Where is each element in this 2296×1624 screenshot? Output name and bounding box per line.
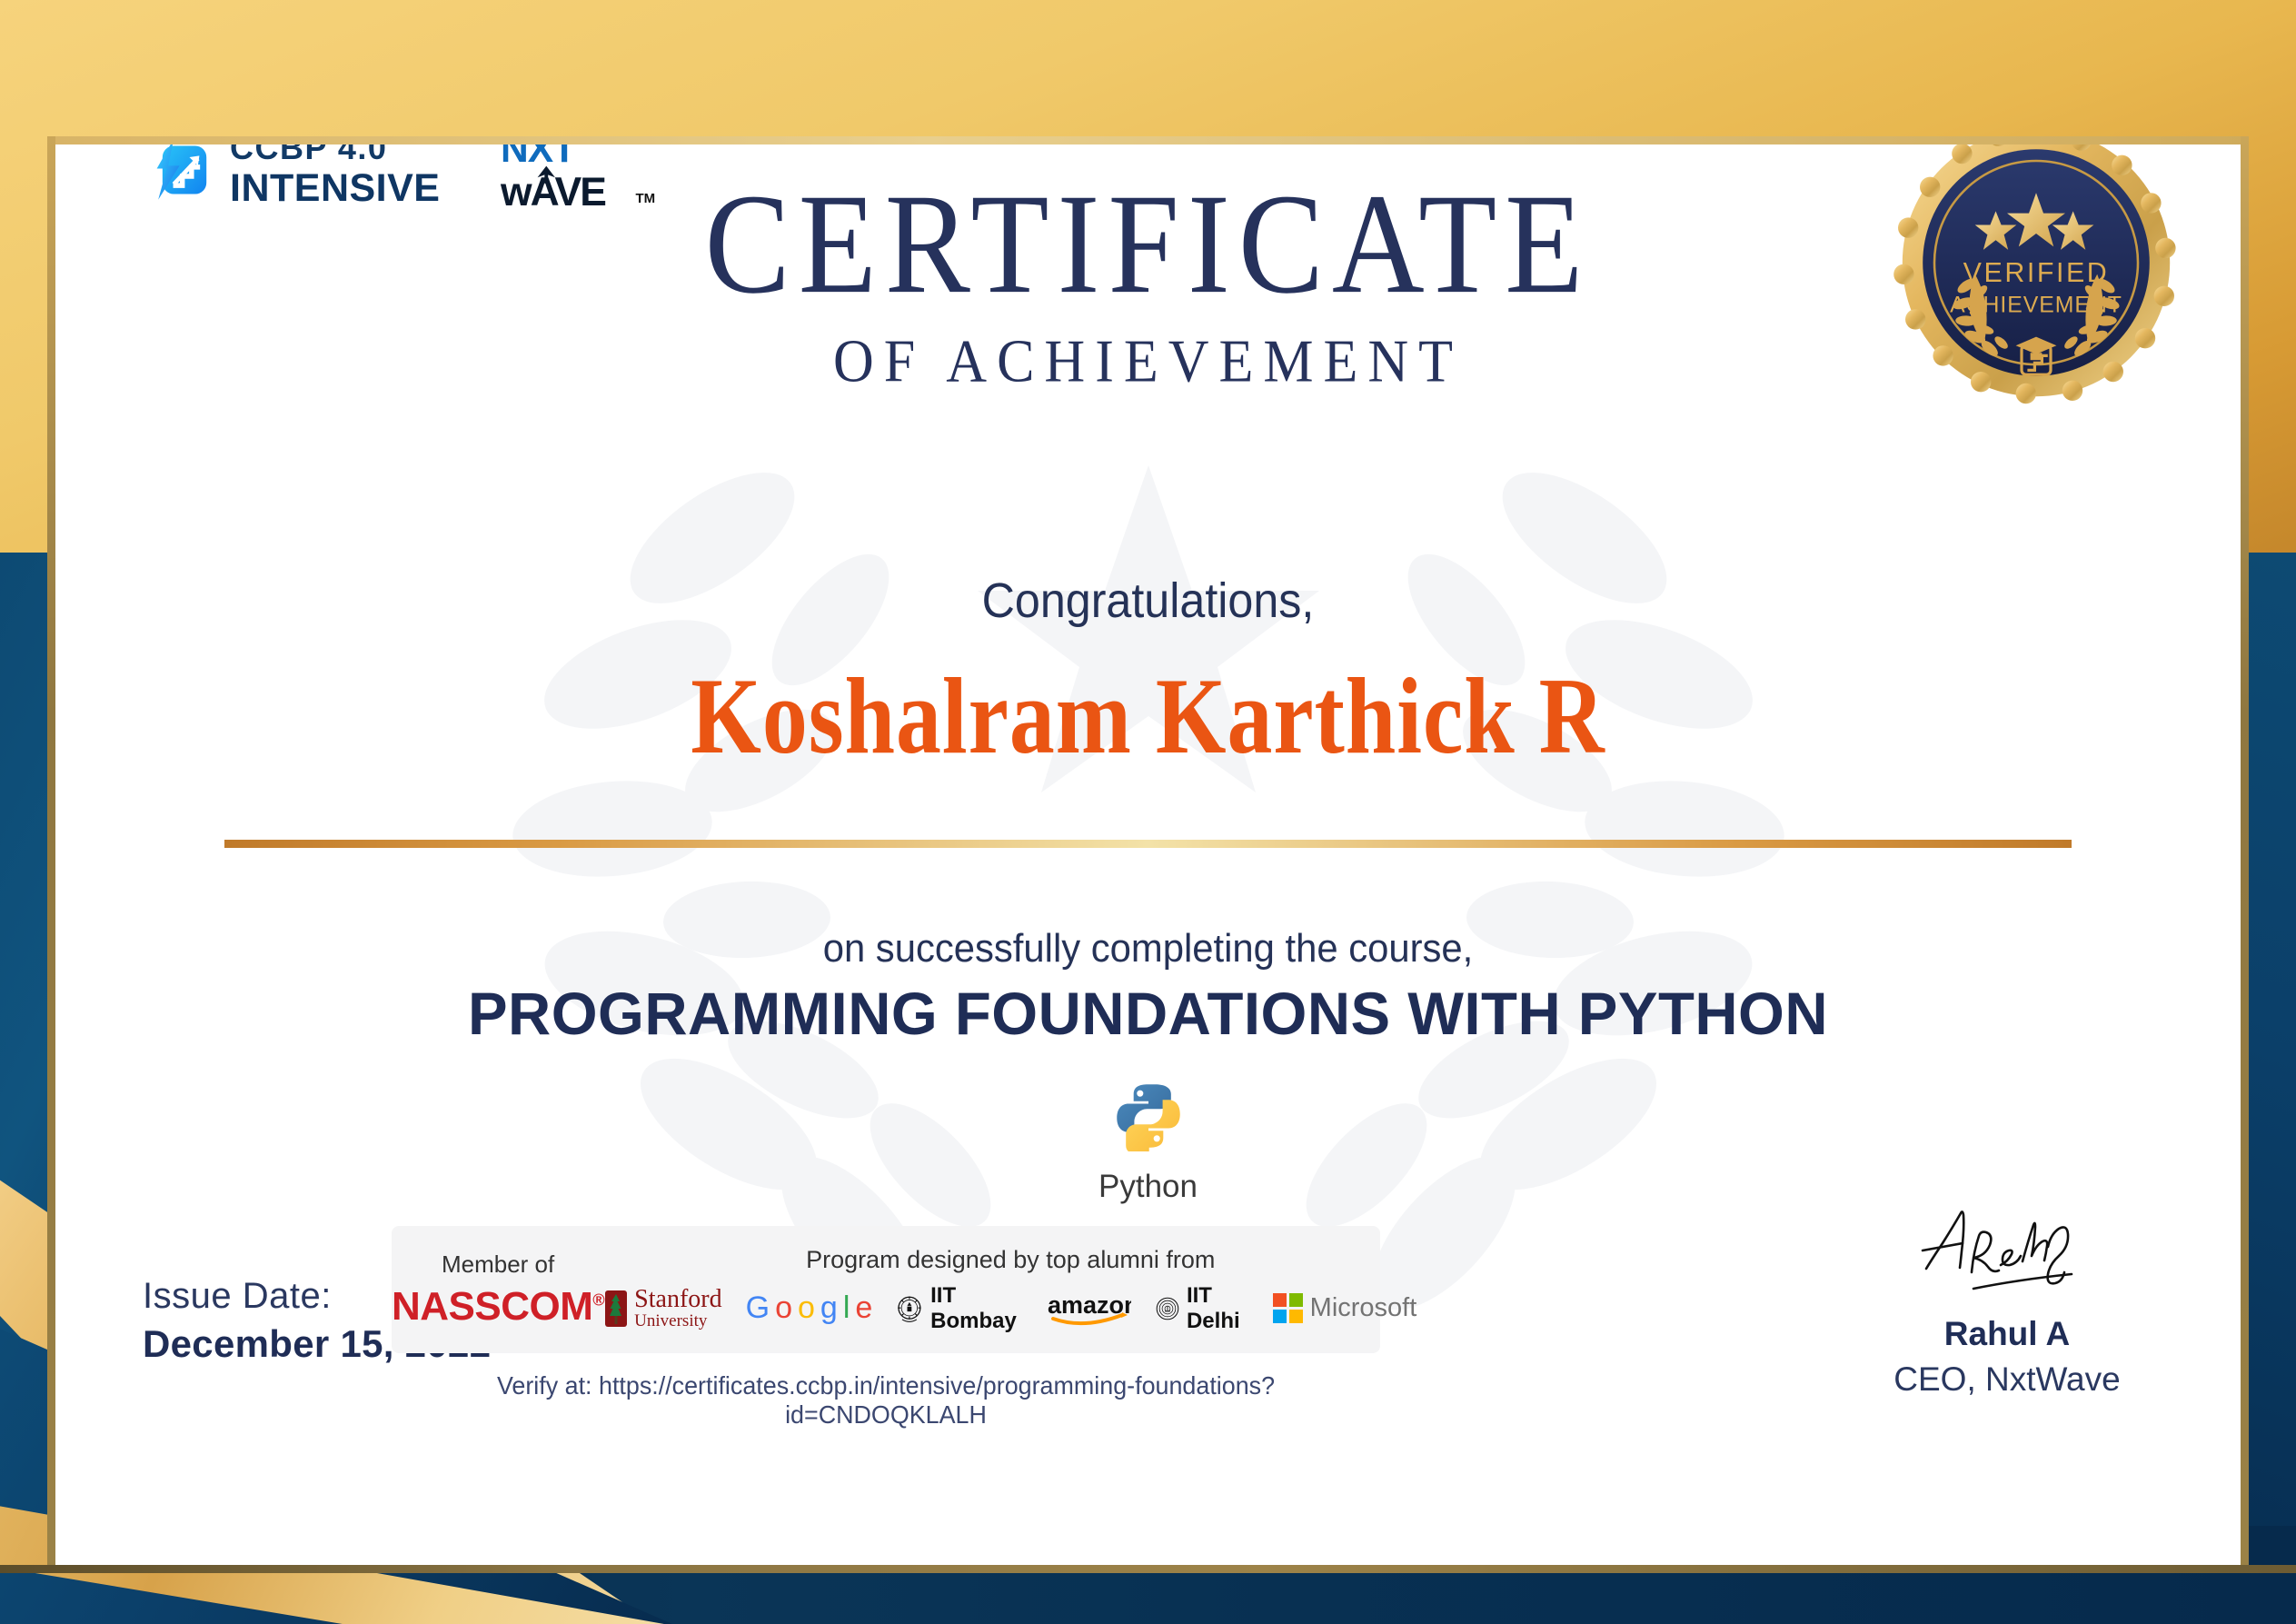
ccbp-label-line1: CCBP 4.0 <box>230 144 441 164</box>
member-of-block: Member of NASSCOM® <box>392 1226 604 1353</box>
iit-bombay-logo: IIT Bombay <box>895 1283 1024 1334</box>
alumni-block: Program designed by top alumni from Stan… <box>604 1226 1416 1353</box>
amazon-logo: amazon <box>1048 1290 1131 1327</box>
amazon-wordmark-icon: amazon <box>1048 1290 1131 1327</box>
pinstripe-top <box>47 136 2249 144</box>
google-letter-o1: o <box>775 1290 791 1326</box>
google-logo: Google <box>746 1290 872 1326</box>
member-of-caption: Member of <box>442 1250 554 1279</box>
iit-bombay-label: IIT Bombay <box>930 1283 1024 1334</box>
microsoft-squares-icon <box>1273 1293 1304 1324</box>
verify-url[interactable]: Verify at: https://certificates.ccbp.in/… <box>412 1371 1360 1430</box>
stanford-tree-icon <box>604 1290 628 1328</box>
title-block: CERTIFICATE OF ACHIEVEMENT <box>55 172 2241 394</box>
google-letter-g: G <box>746 1290 769 1326</box>
partners-panel: Member of NASSCOM® Program designed by t… <box>392 1226 1380 1353</box>
iit-delhi-label: IIT Delhi <box>1187 1283 1249 1334</box>
iit-delhi-logo: IIT Delhi <box>1155 1283 1249 1334</box>
signature-block: Rahul A CEO, NxtWave <box>1857 1194 2157 1399</box>
nasscom-label: NASSCOM <box>392 1284 592 1329</box>
svg-text:NXT: NXT <box>501 144 576 171</box>
google-letter-g2: g <box>820 1290 837 1326</box>
alumni-logos: Stanford University Google <box>604 1283 1416 1334</box>
stanford-logo: Stanford University <box>604 1287 721 1330</box>
gold-divider <box>224 840 2072 848</box>
congratulations-text: Congratulations, <box>132 573 2164 629</box>
certificate-root: CCBP 4.0 INTENSIVE NXT wAVE TM <box>0 0 2296 1624</box>
stanford-label-line1: Stanford <box>634 1287 721 1312</box>
google-letter-o2: o <box>798 1290 814 1326</box>
pinstripe-right <box>2241 136 2249 1573</box>
technology-block: Python <box>55 1081 2241 1205</box>
page-title: CERTIFICATE <box>55 172 2241 318</box>
iit-delhi-crest-icon <box>1155 1290 1180 1327</box>
nasscom-logo: NASSCOM® <box>392 1284 604 1330</box>
course-name: PROGRAMMING FOUNDATIONS WITH PYTHON <box>66 979 2230 1048</box>
recipient-name: Koshalram Karthick R <box>99 654 2197 779</box>
google-letter-l: l <box>843 1290 850 1326</box>
microsoft-logo: Microsoft <box>1273 1293 1417 1324</box>
google-letter-e: e <box>855 1290 871 1326</box>
pinstripe-bottom <box>0 1565 2296 1573</box>
nasscom-registered-mark: ® <box>592 1290 604 1309</box>
microsoft-label: Microsoft <box>1310 1293 1417 1323</box>
alumni-caption: Program designed by top alumni from <box>806 1246 1215 1274</box>
signatory-name: Rahul A <box>1857 1315 2157 1353</box>
page-subtitle: OF ACHIEVEMENT <box>55 327 2241 397</box>
certificate-card: CCBP 4.0 INTENSIVE NXT wAVE TM <box>55 144 2241 1565</box>
signature-icon <box>1903 1194 2112 1303</box>
signatory-role: CEO, NxtWave <box>1857 1360 2157 1399</box>
pinstripe-left <box>47 136 55 1573</box>
iit-bombay-crest-icon <box>895 1290 924 1328</box>
stanford-label-line2: University <box>634 1312 721 1330</box>
python-logo-icon <box>1113 1081 1184 1151</box>
course-lead-text: on successfully completing the course, <box>110 926 2186 971</box>
